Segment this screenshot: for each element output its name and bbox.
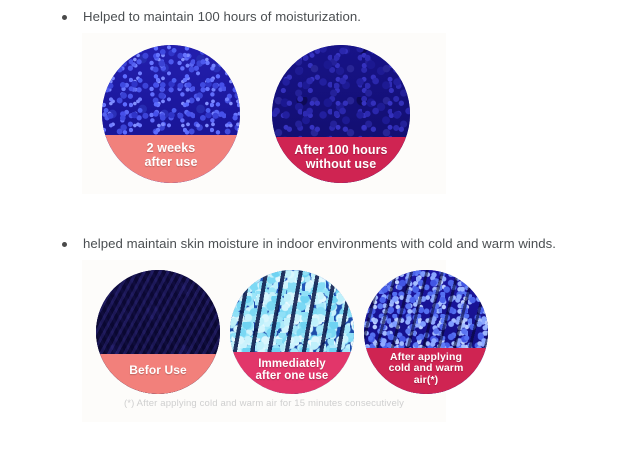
circle-immediately-after-one-use: Immediately after one use xyxy=(230,270,354,394)
bullet-dot-icon xyxy=(62,242,67,247)
caption-line-1: Immediately xyxy=(256,358,329,371)
caption-band-after-100-hours-without-use: After 100 hours without use xyxy=(272,137,410,183)
caption-line-1: 2 weeks xyxy=(144,141,197,155)
circle-before-use: Befor Use xyxy=(96,270,220,394)
figure-cold-warm-wind-comparison: Befor Use Immediately after one use Afte… xyxy=(82,260,446,422)
caption-line-1: After 100 hours xyxy=(294,143,387,157)
caption-line-2: after use xyxy=(144,155,197,169)
figure-footnote: (*) After applying cold and warm air for… xyxy=(82,398,446,409)
caption-line-1: Befor Use xyxy=(129,364,187,377)
circle-two-weeks-after-use: 2 weeks after use xyxy=(102,45,240,183)
bullet-item-moisturization: Helped to maintain 100 hours of moisturi… xyxy=(62,8,361,26)
caption-line-2: without use xyxy=(294,157,387,171)
caption-band-before-use: Befor Use xyxy=(96,354,220,394)
caption-band-immediately-after-one-use: Immediately after one use xyxy=(230,352,354,394)
bullet-text-indoor-environments: helped maintain skin moisture in indoor … xyxy=(83,235,556,253)
circle-after-100-hours-without-use: After 100 hours without use xyxy=(272,45,410,183)
caption-band-two-weeks-after-use: 2 weeks after use xyxy=(102,135,240,183)
document-page: Helped to maintain 100 hours of moisturi… xyxy=(0,0,625,462)
bullet-text-moisturization: Helped to maintain 100 hours of moisturi… xyxy=(83,8,361,26)
bullet-item-indoor-environments: helped maintain skin moisture in indoor … xyxy=(62,235,556,253)
caption-line-3: air(*) xyxy=(389,375,464,387)
figure-moisturization-comparison: 2 weeks after use After 100 hours withou… xyxy=(82,33,446,194)
caption-line-2: after one use xyxy=(256,370,329,383)
caption-band-after-applying-cold-and-warm-air: After applying cold and warm air(*) xyxy=(364,348,488,394)
bullet-dot-icon xyxy=(62,15,67,20)
circle-after-applying-cold-and-warm-air: After applying cold and warm air(*) xyxy=(364,270,488,394)
